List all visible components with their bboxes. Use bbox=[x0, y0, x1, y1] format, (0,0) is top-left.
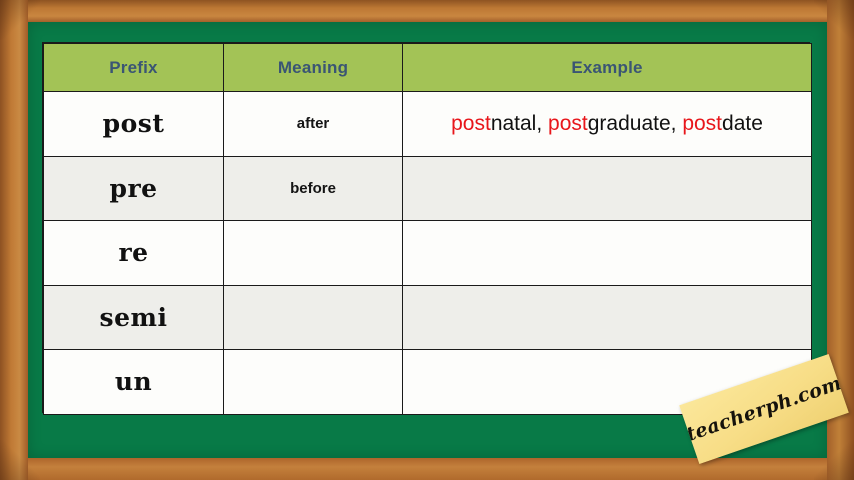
cell-meaning bbox=[224, 221, 403, 286]
prefix-table: Prefix Meaning Example postafterpostnata… bbox=[43, 43, 812, 415]
cell-example bbox=[403, 285, 812, 350]
table-row: semi bbox=[44, 285, 812, 350]
example-prefix-highlight: post bbox=[548, 112, 588, 135]
table-header: Prefix Meaning Example bbox=[44, 44, 812, 92]
column-header-meaning: Meaning bbox=[224, 44, 403, 92]
table-body: postafterpostnatal, postgraduate, postda… bbox=[44, 92, 812, 415]
example-prefix-highlight: post bbox=[682, 112, 722, 135]
example-prefix-highlight: post bbox=[451, 112, 491, 135]
table-header-row: Prefix Meaning Example bbox=[44, 44, 812, 92]
table-row: re bbox=[44, 221, 812, 286]
cell-meaning: before bbox=[224, 156, 403, 221]
table-row: postafterpostnatal, postgraduate, postda… bbox=[44, 92, 812, 157]
cell-example bbox=[403, 156, 812, 221]
example-word-remainder: graduate, bbox=[588, 112, 683, 135]
cell-example: postnatal, postgraduate, postdate bbox=[403, 92, 812, 157]
cell-prefix: pre bbox=[44, 156, 224, 221]
cell-prefix: semi bbox=[44, 285, 224, 350]
cell-prefix: re bbox=[44, 221, 224, 286]
prefix-table-container: Prefix Meaning Example postafterpostnata… bbox=[42, 42, 810, 413]
table-row: prebefore bbox=[44, 156, 812, 221]
column-header-example: Example bbox=[403, 44, 812, 92]
cell-prefix: un bbox=[44, 350, 224, 415]
cell-prefix: post bbox=[44, 92, 224, 157]
example-word-remainder: natal, bbox=[491, 112, 548, 135]
example-word-remainder: date bbox=[722, 112, 763, 135]
cell-meaning bbox=[224, 350, 403, 415]
column-header-prefix: Prefix bbox=[44, 44, 224, 92]
frame-left-stile bbox=[0, 0, 28, 480]
frame-bottom-rail bbox=[0, 456, 854, 480]
cell-meaning: after bbox=[224, 92, 403, 157]
slide-canvas: Prefix Meaning Example postafterpostnata… bbox=[0, 0, 854, 480]
cell-example bbox=[403, 221, 812, 286]
frame-top-rail bbox=[0, 0, 854, 23]
cell-meaning bbox=[224, 285, 403, 350]
